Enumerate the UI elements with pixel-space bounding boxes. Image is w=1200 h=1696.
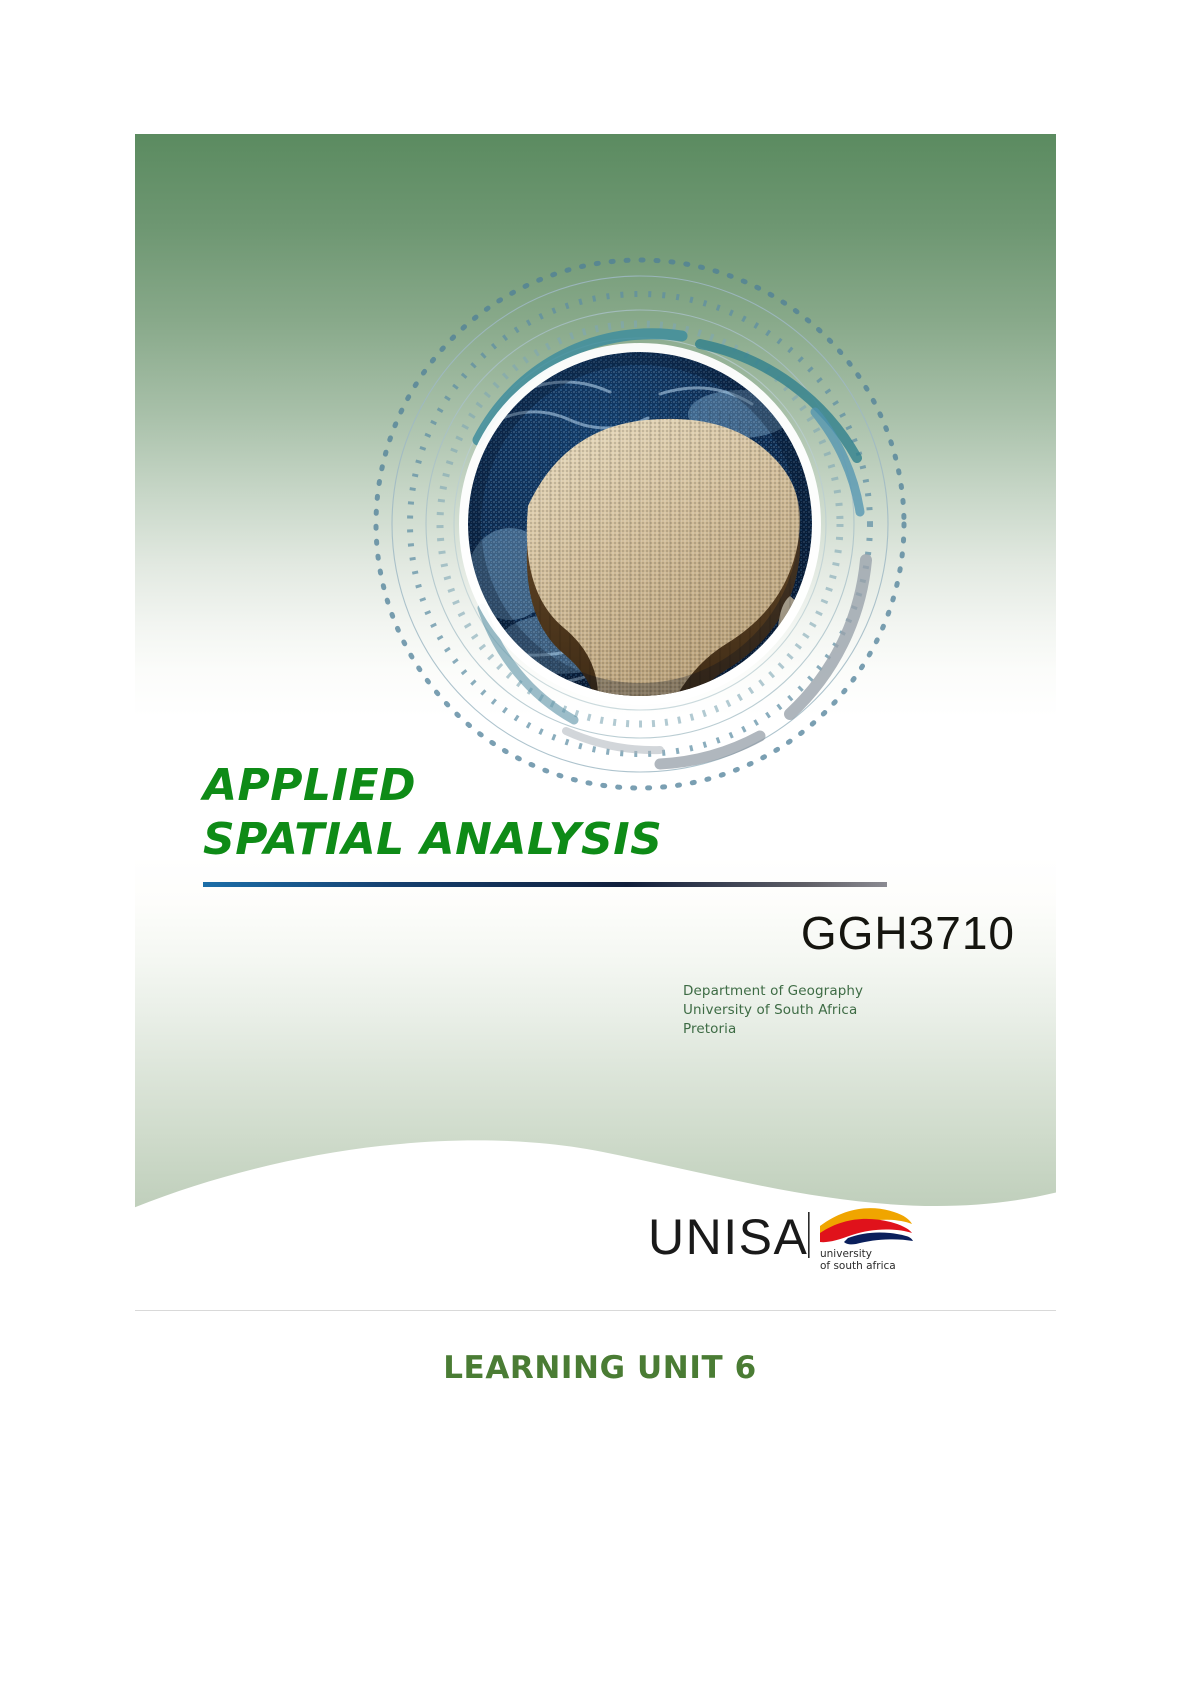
course-code: GGH3710 <box>135 906 1015 960</box>
unisa-wordmark: UNISA <box>648 1209 808 1265</box>
affiliation-block: Department of Geography University of So… <box>683 982 863 1039</box>
cover-title-block: APPLIED SPATIAL ANALYSIS <box>203 759 993 887</box>
affiliation-department: Department of Geography <box>683 982 863 1001</box>
page-separator <box>135 1310 1056 1311</box>
affiliation-city: Pretoria <box>683 1020 863 1039</box>
logo-tagline-line1: university <box>820 1248 872 1260</box>
unisa-logo: UNISA university of south africa <box>648 1200 913 1274</box>
cover-title-line-1: APPLIED <box>203 759 993 813</box>
title-underline-rule <box>203 882 887 887</box>
logo-divider <box>808 1212 810 1258</box>
learning-unit-heading: LEARNING UNIT 6 <box>0 1350 1200 1386</box>
cover-title-line-2: SPATIAL ANALYSIS <box>203 813 993 867</box>
affiliation-institution: University of South Africa <box>683 1001 863 1020</box>
africa-pixel-globe-artwork <box>360 244 920 804</box>
cover-panel: APPLIED SPATIAL ANALYSIS GGH3710 Departm… <box>135 134 1056 1300</box>
logo-tagline-line2: of south africa <box>820 1260 896 1272</box>
cover-wave-divider <box>135 1112 1056 1300</box>
sa-flag-ribbon <box>820 1208 913 1244</box>
document-page: APPLIED SPATIAL ANALYSIS GGH3710 Departm… <box>0 0 1200 1696</box>
